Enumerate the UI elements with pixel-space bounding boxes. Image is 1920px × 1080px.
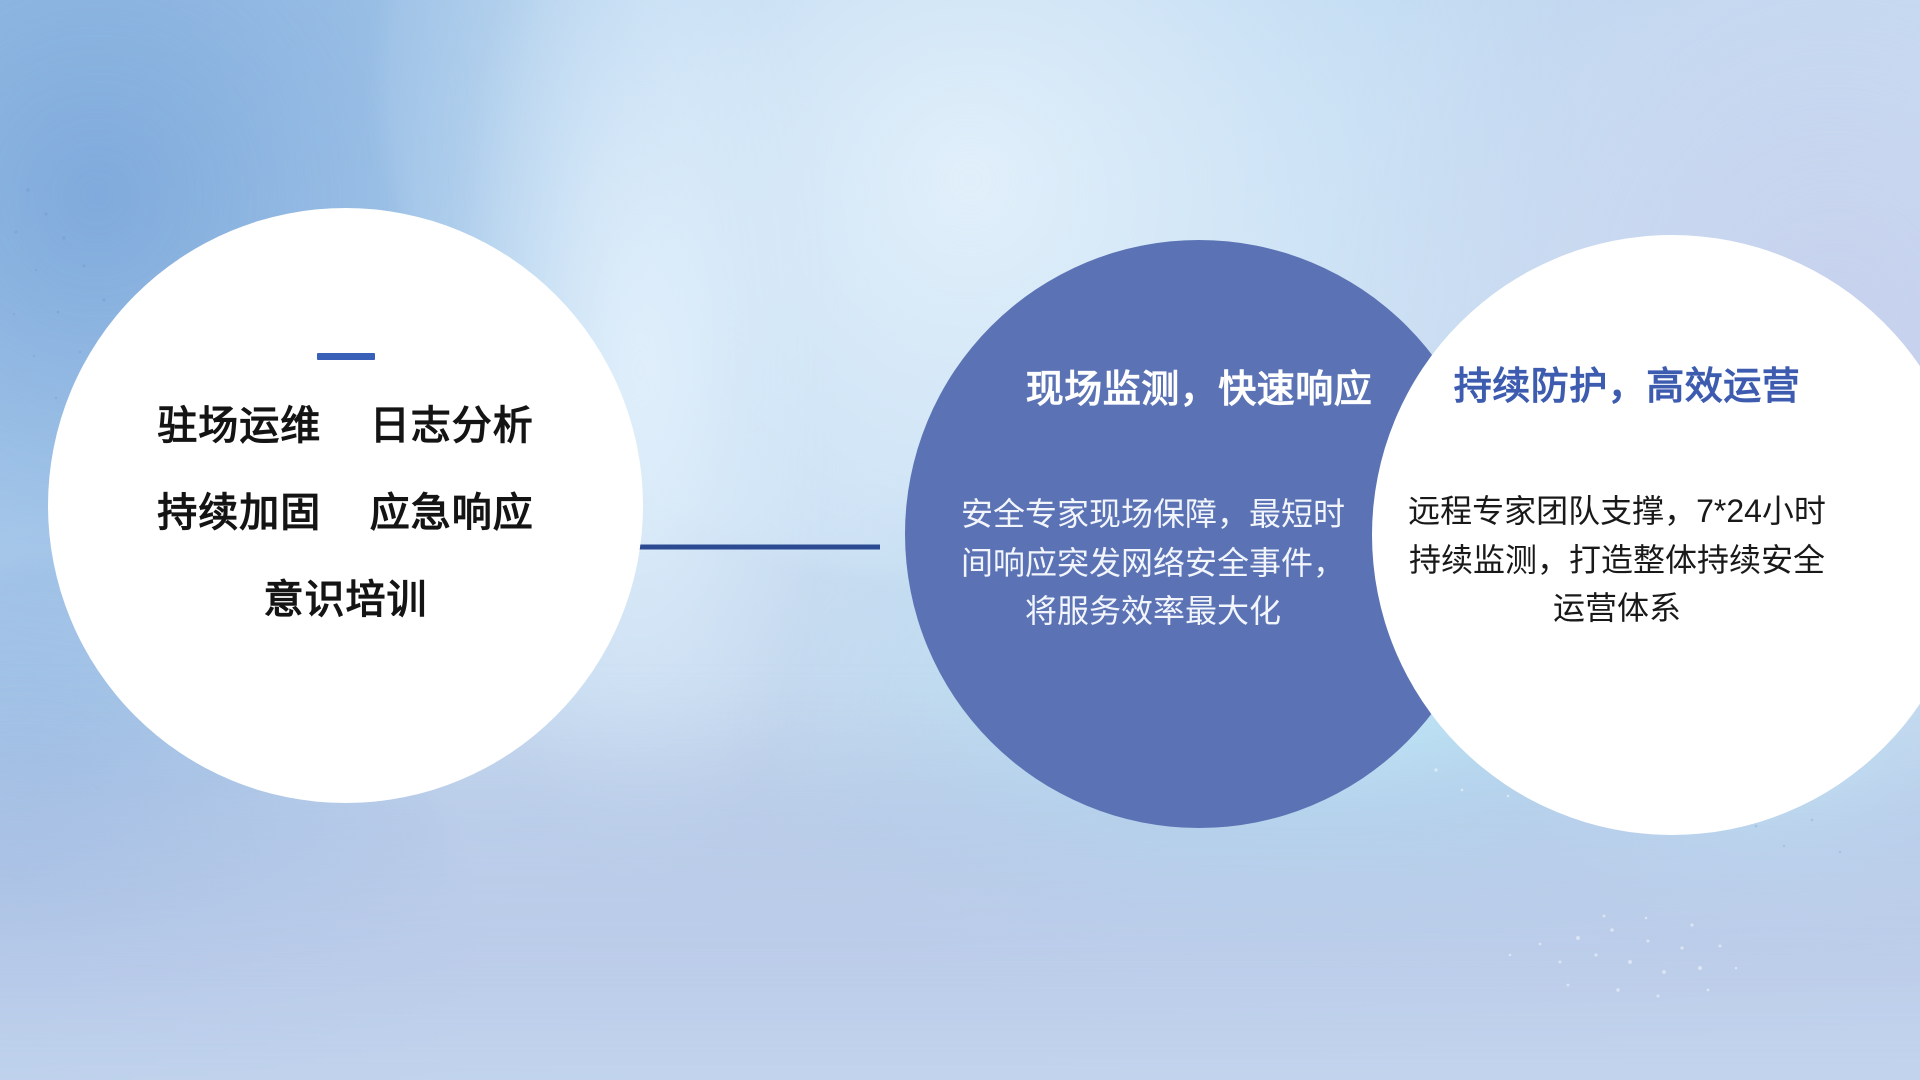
left-circle-line-3: 意识培训 xyxy=(48,580,643,620)
onsite-circle-body: 安全专家现场保障，最短时间响应突发网络安全事件，将服务效率最大化 xyxy=(953,490,1353,636)
continuous-circle-title: 持续防护，高效运营 xyxy=(1372,355,1920,410)
slide-canvas: 驻场运维 日志分析 持续加固 应急响应 意识培训 现场监测，快速响应 安全专家现… xyxy=(0,0,1920,1080)
accent-dash-icon xyxy=(317,353,375,360)
left-circle-content: 驻场运维 日志分析 持续加固 应急响应 意识培训 xyxy=(48,353,643,620)
capability-circle-left: 驻场运维 日志分析 持续加固 应急响应 意识培训 xyxy=(48,208,643,803)
left-circle-line-1: 驻场运维 日志分析 xyxy=(48,406,643,446)
continuous-circle-body: 远程专家团队支撑，7*24小时持续监测，打造整体持续安全运营体系 xyxy=(1402,487,1832,633)
left-circle-line-2: 持续加固 应急响应 xyxy=(48,493,643,533)
